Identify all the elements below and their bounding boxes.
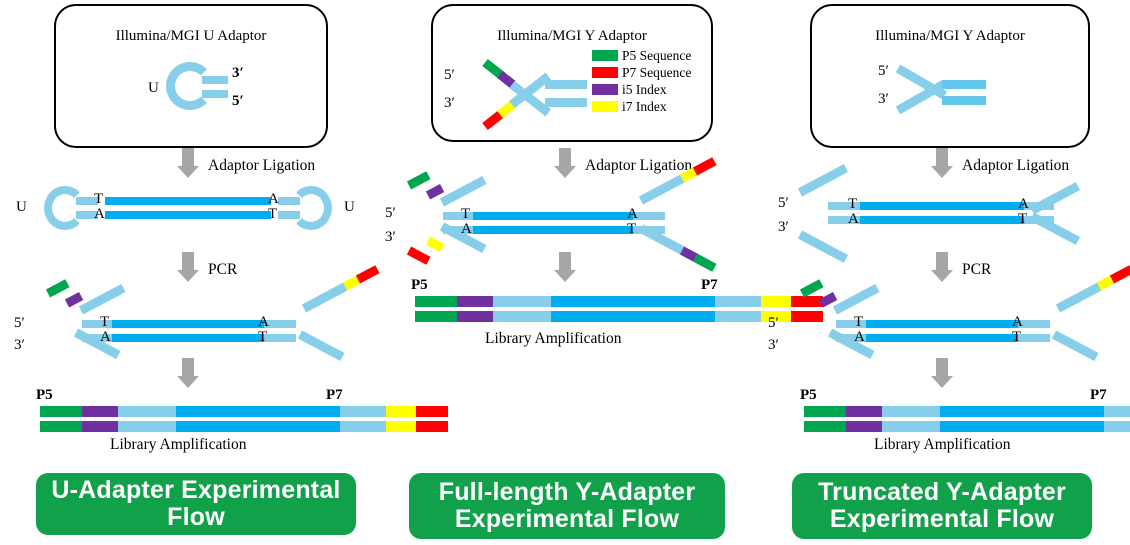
base-label-T-right: T — [1012, 330, 1021, 345]
five-prime-label: 5ʹ — [14, 316, 25, 331]
base-label-A-left: A — [461, 222, 472, 237]
library-strand-top — [804, 406, 1130, 417]
y-adaptor-glyph-truncated — [894, 58, 1014, 118]
final-label: Library Amplification — [485, 330, 621, 348]
five-prime-label: 5ʹ — [768, 316, 779, 331]
column-truncated-y-adapter: Illumina/MGI Y Adaptor 5ʹ 3ʹ Adaptor Lig… — [754, 0, 1130, 545]
step-label-adaptor-ligation: Adaptor Ligation — [962, 157, 1069, 175]
final-library-y-truncated: P5 P7 Library Amplification — [754, 388, 1130, 448]
u-base-label: U — [148, 81, 159, 96]
adaptor-box-title: Illumina/MGI U Adaptor — [56, 28, 326, 45]
five-prime-label: 5ʹ — [878, 64, 889, 79]
y-adaptor-glyph-full — [457, 52, 577, 130]
step-label-adaptor-ligation: Adaptor Ligation — [208, 157, 315, 175]
i5-index-segment — [846, 406, 882, 417]
base-label-A-right: A — [1012, 315, 1023, 330]
insert-segment — [940, 421, 1104, 432]
p5-sequence-segment — [415, 311, 457, 322]
three-prime-label: 3ʹ — [768, 338, 779, 353]
i5-index-swatch — [592, 84, 618, 95]
base-label-A-left: A — [100, 330, 111, 345]
three-prime-label: 3ʹ — [385, 230, 396, 245]
legend-item: i7 Index — [592, 98, 691, 115]
base-label-T-right: T — [627, 222, 636, 237]
i7-index-swatch — [592, 101, 618, 112]
p7-tag: P7 — [701, 278, 718, 293]
step-label-pcr: PCR — [962, 261, 991, 279]
arrow-adaptor-ligation — [554, 148, 576, 178]
color-legend: P5 Sequence P7 Sequence i5 Index i7 Inde… — [592, 47, 691, 115]
insert-segment — [176, 406, 340, 417]
u-adaptor-glyph — [166, 62, 228, 114]
final-library-u: P5 P7 Library Amplification — [0, 388, 376, 448]
base-label-T-right: T — [258, 330, 267, 345]
final-label: Library Amplification — [874, 436, 1010, 454]
five-prime-label: 5ʹ — [385, 206, 396, 221]
adaptor-box-title: Illumina/MGI Y Adaptor — [812, 28, 1088, 45]
arrow-library — [177, 358, 199, 388]
base-label-T-left: T — [854, 315, 863, 330]
ligation-product-y-truncated: T A A T 5ʹ 3ʹ — [754, 184, 1130, 248]
u-base-right: U — [344, 200, 355, 215]
footer-truncated-y-adapter: Truncated Y-Adapter Experimental Flow — [792, 473, 1092, 539]
column-u-adapter: Illumina/MGI U Adaptor U 3ʹ 5ʹ Adaptor L… — [0, 0, 376, 545]
i5-index-segment — [457, 296, 493, 307]
three-prime-label: 3ʹ — [232, 66, 244, 81]
p5-sequence-segment — [804, 406, 846, 417]
arrow-library — [931, 358, 953, 388]
footer-u-adapter: U-Adapter Experimental Flow — [36, 473, 356, 535]
i5-index-segment — [457, 311, 493, 322]
i5-index-segment — [846, 421, 882, 432]
arrow-adaptor-ligation — [177, 148, 199, 178]
adapter-arm-left-segment — [882, 421, 940, 432]
adapter-arm-left-segment — [118, 421, 176, 432]
p7-sequence-swatch — [592, 67, 618, 78]
p5-tag: P5 — [800, 388, 817, 403]
u-base-left: U — [16, 200, 27, 215]
three-prime-label: 3ʹ — [444, 96, 455, 111]
base-label-A-right: A — [268, 192, 279, 207]
step-label-pcr: PCR — [208, 261, 237, 279]
p5-sequence-segment — [40, 406, 82, 417]
base-label-A-right: A — [258, 315, 269, 330]
footer-full-length-y-adapter: Full-length Y-Adapter Experimental Flow — [409, 473, 725, 539]
footer-text: U-Adapter Experimental Flow — [36, 477, 356, 531]
insert-segment — [940, 406, 1104, 417]
p5-tag: P5 — [36, 388, 53, 403]
arrow-pcr — [177, 252, 199, 282]
base-label-A-left: A — [848, 212, 859, 227]
i5-index-segment — [82, 406, 118, 417]
base-label-T-left: T — [461, 207, 470, 222]
p5-sequence-segment — [804, 421, 846, 432]
insert-segment — [176, 421, 340, 432]
final-label: Library Amplification — [110, 436, 246, 454]
base-label-T-right: T — [1018, 212, 1027, 227]
final-library-y-full: P5 P7 Library Amplification — [377, 278, 753, 338]
five-prime-label: 5ʹ — [232, 94, 244, 109]
base-label-T-left: T — [100, 315, 109, 330]
p5-tag: P5 — [411, 278, 428, 293]
library-strand-bottom — [804, 421, 1130, 432]
footer-text: Truncated Y-Adapter Experimental Flow — [818, 479, 1066, 533]
i5-index-segment — [82, 421, 118, 432]
adaptor-box-title: Illumina/MGI Y Adaptor — [433, 28, 711, 45]
adapter-arm-right-segment — [1104, 406, 1130, 417]
legend-item: P5 Sequence — [592, 47, 691, 64]
ligation-product-u: T A A T U U — [0, 185, 376, 243]
legend-label: P5 Sequence — [622, 49, 691, 63]
adapter-arm-left-segment — [118, 406, 176, 417]
p7-tag: P7 — [1090, 388, 1107, 403]
three-prime-label: 3ʹ — [14, 338, 25, 353]
five-prime-label: 5ʹ — [444, 68, 455, 83]
five-prime-label: 5ʹ — [778, 196, 789, 211]
base-label-A-right: A — [1018, 197, 1029, 212]
legend-label: i7 Index — [622, 100, 667, 114]
adapter-arm-left-segment — [493, 296, 551, 307]
step-label-adaptor-ligation: Adaptor Ligation — [585, 157, 692, 175]
base-label-A-left: A — [854, 330, 865, 345]
adapter-arm-left-segment — [882, 406, 940, 417]
adapter-arm-left-segment — [493, 311, 551, 322]
p7-tag: P7 — [326, 388, 343, 403]
footer-text: Full-length Y-Adapter Experimental Flow — [439, 479, 696, 533]
insert-segment — [551, 296, 715, 307]
legend-label: P7 Sequence — [622, 66, 691, 80]
three-prime-label: 3ʹ — [878, 92, 889, 107]
three-prime-label: 3ʹ — [778, 220, 789, 235]
arrow-adaptor-ligation — [931, 148, 953, 178]
adapter-arm-right-segment — [1104, 421, 1130, 432]
ligation-product-y-full: T A A T 5ʹ 3ʹ — [377, 178, 753, 254]
p5-sequence-segment — [40, 421, 82, 432]
legend-item: P7 Sequence — [592, 64, 691, 81]
base-label-A-left: A — [94, 207, 105, 222]
arrow-pcr — [931, 252, 953, 282]
legend-item: i5 Index — [592, 81, 691, 98]
p5-sequence-swatch — [592, 50, 618, 61]
base-label-T-left: T — [94, 192, 103, 207]
insert-segment — [551, 311, 715, 322]
legend-label: i5 Index — [622, 83, 667, 97]
base-label-T-left: T — [848, 197, 857, 212]
pcr-product-u: T A A T 5ʹ 3ʹ — [0, 290, 376, 360]
column-full-length-y-adapter: Illumina/MGI Y Adaptor 5ʹ 3ʹ P5 Sequence… — [377, 0, 753, 545]
base-label-T-right: T — [268, 207, 277, 222]
base-label-A-right: A — [627, 207, 638, 222]
pcr-product-y-truncated: T A A T 5ʹ 3ʹ — [754, 290, 1130, 360]
p5-sequence-segment — [415, 296, 457, 307]
